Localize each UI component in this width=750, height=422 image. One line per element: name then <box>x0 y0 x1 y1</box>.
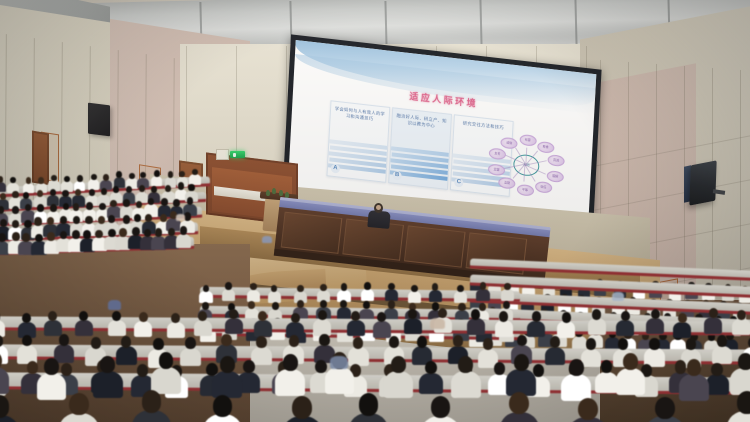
audience-member <box>275 354 305 395</box>
audience-member-head <box>297 300 304 308</box>
audience-member-head <box>0 352 2 369</box>
audience-member-head <box>0 193 6 200</box>
audience-member-torso <box>275 369 305 396</box>
audience-member <box>679 359 709 400</box>
audience-member <box>268 285 281 303</box>
audience-member-head <box>51 175 57 182</box>
audience-member-head <box>99 203 106 211</box>
audience-member-head <box>22 335 32 347</box>
audience-member <box>75 311 93 336</box>
audience-member-head <box>483 338 493 350</box>
audience-member <box>286 313 304 338</box>
audience-member-head <box>0 233 6 242</box>
audience-member-head <box>22 313 31 323</box>
audience-member <box>561 359 591 400</box>
audience-member-head <box>95 230 103 239</box>
audience-member-torso <box>588 318 606 334</box>
audience-member-torso <box>495 320 513 336</box>
audience-member-head <box>12 220 19 228</box>
audience-member-torso <box>108 320 126 336</box>
audience-member <box>645 397 685 422</box>
audience-member-head <box>621 311 630 321</box>
audience-member-torso <box>404 318 422 334</box>
audience-member-head <box>23 192 29 199</box>
audience-accent-item <box>108 300 121 310</box>
audience-member-torso <box>313 319 331 335</box>
lecture-hall-photo: 适应人际环境 学会如何与人有效人的学习和沟通技巧A融洽好人际、树立产、知识以教为… <box>0 0 750 422</box>
audience-member-head <box>198 311 207 321</box>
audience-member-head <box>509 392 529 415</box>
audience-member <box>247 283 260 301</box>
audience-member-head <box>319 334 329 346</box>
slide-radial-diagram: 人际 包容尊重真诚理解信任平等互助宽容友善诚信 <box>484 128 571 201</box>
audience-member-head <box>123 199 130 207</box>
audience-member-head <box>432 283 439 291</box>
audience-member-head <box>69 393 89 416</box>
radial-node: 信任 <box>535 181 553 194</box>
audience-member-head <box>142 390 162 413</box>
audience-member-head <box>578 398 598 421</box>
audience-member-head <box>221 334 231 346</box>
audience-member-head <box>678 313 687 323</box>
audience-member-head <box>101 188 107 195</box>
audience-member <box>412 336 433 364</box>
audience-member-torso <box>134 321 152 337</box>
audience-member-head <box>256 336 266 348</box>
audience-member-torso <box>0 367 9 394</box>
audience-member-head <box>48 311 57 321</box>
slide-card-bars <box>389 146 449 189</box>
audience-member-head <box>717 335 727 347</box>
audience-member-head <box>64 176 70 183</box>
audience-member <box>254 311 272 336</box>
audience-member <box>199 285 212 303</box>
audience-member-head <box>154 170 160 177</box>
audience-member-head <box>389 336 399 348</box>
audience-member-head <box>153 338 163 350</box>
audience-member <box>222 282 235 300</box>
radial-node: 理解 <box>546 170 564 183</box>
audience-member <box>646 309 664 334</box>
audience-member <box>349 393 389 422</box>
audience-member-head <box>514 354 529 371</box>
audience-member-head <box>364 282 371 290</box>
radial-node: 包容 <box>519 134 537 147</box>
audience-member-head <box>151 186 157 193</box>
audience-member-head <box>592 309 601 319</box>
audience-member-head <box>618 338 628 350</box>
audience-member-head <box>171 313 180 323</box>
audience-member-head <box>388 283 395 291</box>
audience-member <box>501 283 514 301</box>
audience-member <box>373 312 391 337</box>
audience-member-head <box>47 232 55 241</box>
audience-member-head <box>562 312 571 322</box>
audience-member-head <box>168 171 174 178</box>
audience-accent-item <box>176 214 185 221</box>
slide-card-a: 学会如何与人有效人的学习和沟通技巧A <box>326 100 390 183</box>
audience-member <box>451 356 481 397</box>
audience-member-head <box>132 227 140 236</box>
audience-member-head <box>10 177 16 184</box>
audience-accent-item <box>430 318 445 329</box>
audience-member-head <box>425 361 437 374</box>
audience-member <box>732 310 750 335</box>
audience-member-head <box>651 309 660 319</box>
audience-member <box>706 363 729 395</box>
audience-member-torso <box>194 320 212 336</box>
table-panel-1 <box>281 212 343 254</box>
audience-member <box>616 311 634 336</box>
audience-member <box>500 392 540 422</box>
audience-member-head <box>37 204 44 212</box>
audience-member-head <box>220 356 235 373</box>
audience-member-head <box>192 169 198 176</box>
audience-member <box>212 356 242 397</box>
audience-member-head <box>79 311 88 321</box>
audience-member-head <box>140 172 146 179</box>
audience-member-head <box>187 197 194 205</box>
wall-speaker-left <box>88 103 110 137</box>
wall-control-plate[interactable] <box>216 149 229 160</box>
audience-member-head <box>458 303 465 311</box>
audience-member-head <box>504 283 511 291</box>
audience-member-head <box>103 174 109 181</box>
audience-member-head <box>243 360 255 373</box>
audience-member <box>673 313 691 338</box>
table-panel-3 <box>404 225 466 267</box>
audience-member-head <box>121 336 131 348</box>
audience-member <box>0 352 9 393</box>
audience-member-head <box>123 215 130 223</box>
audience-member-torso <box>616 320 634 336</box>
audience-member-torso <box>467 318 485 334</box>
audience-member-torso <box>706 374 729 395</box>
slide-card-text: 融洽好人际、树立产、知识以教为中心 <box>392 108 451 131</box>
audience-member-head <box>737 391 750 414</box>
audience-member <box>88 174 99 190</box>
audience-member-head <box>0 395 9 418</box>
audience-member-head <box>44 358 59 375</box>
audience-member-head <box>185 337 195 349</box>
audience-member <box>151 352 181 393</box>
audience-member <box>467 309 485 334</box>
wall-speaker-right <box>689 160 716 205</box>
audience-member <box>225 309 243 334</box>
audience-member-torso <box>408 291 421 303</box>
audience-member <box>527 311 545 336</box>
audience-member <box>419 361 442 393</box>
audience-member-head <box>297 285 304 293</box>
audience-member <box>385 283 398 301</box>
audience-member <box>730 353 750 394</box>
audience-member-torso <box>347 320 365 336</box>
audience-member-head <box>134 214 141 222</box>
audience-member <box>644 338 665 366</box>
audience-member-torso <box>167 322 185 338</box>
audience-member-head <box>202 302 209 310</box>
radial-node: 友善 <box>489 148 507 161</box>
slide-card-b: 融洽好人际、树立产、知识以教为中心B <box>388 107 452 190</box>
audience-member-head <box>320 300 327 308</box>
audience-member-torso <box>429 290 442 302</box>
slide-card-bars <box>327 139 387 182</box>
audience-member-torso <box>673 322 691 338</box>
audience-member-head <box>83 230 91 239</box>
audience-member-head <box>85 216 92 224</box>
audience-member-torso <box>454 291 467 303</box>
audience-member-torso <box>712 346 733 365</box>
radial-nodes: 包容尊重真诚理解信任平等互助宽容友善诚信 <box>487 128 571 138</box>
audience-member <box>17 335 38 363</box>
audience-member-head <box>586 338 596 350</box>
audience-member-head <box>431 396 451 419</box>
audience-member <box>712 335 733 363</box>
audience-member <box>421 396 461 422</box>
audience-member-torso <box>704 317 722 333</box>
exit-running-man-icon <box>233 153 236 157</box>
audience-member <box>476 282 489 300</box>
audience-member-head <box>686 338 696 350</box>
audience-member <box>347 311 365 336</box>
audience-member-head <box>116 171 122 178</box>
audience-member-head <box>320 284 327 292</box>
audience-member <box>132 390 172 422</box>
audience-member-head <box>250 283 257 291</box>
audience-member <box>0 176 6 192</box>
audience-member-head <box>480 282 487 290</box>
audience-member-head <box>391 356 406 373</box>
audience-member-torso <box>180 348 201 367</box>
audience-member-head <box>119 228 127 237</box>
audience-member-head <box>139 312 148 322</box>
audience-member-head <box>711 363 723 376</box>
plant-2 <box>272 188 276 194</box>
audience-member-head <box>550 336 560 348</box>
audience-accent-item <box>330 356 348 369</box>
audience-member <box>337 283 350 301</box>
audience-member-torso <box>75 320 93 336</box>
audience-member <box>283 396 323 422</box>
audience-member-torso <box>222 289 235 301</box>
audience-member-head <box>213 395 233 418</box>
audience-member <box>408 285 421 303</box>
audience-member-head <box>388 300 395 308</box>
audience-member-head <box>173 199 180 207</box>
audience-member-head <box>178 182 184 189</box>
audience-member-head <box>318 310 327 320</box>
audience-member-head <box>86 202 93 210</box>
audience-member-head <box>291 313 300 323</box>
radial-node: 宽容 <box>488 163 506 176</box>
audience-member <box>727 391 750 422</box>
radial-node: 真诚 <box>547 154 565 167</box>
audience-member-head <box>34 217 41 225</box>
plant-1 <box>266 190 270 196</box>
audience-member-head <box>471 309 480 319</box>
audience-member <box>384 356 414 397</box>
audience-member-head <box>458 356 473 373</box>
radial-node: 平等 <box>516 184 534 197</box>
audience-member <box>134 312 152 337</box>
audience-member-head <box>188 184 194 191</box>
audience-member-head <box>100 356 115 373</box>
audience-member-head <box>180 226 188 235</box>
radial-node: 尊重 <box>537 141 555 154</box>
audience-member <box>429 283 442 301</box>
audience-member-head <box>272 302 279 310</box>
audience-member-head <box>649 338 659 350</box>
audience-member-torso <box>0 182 6 192</box>
audience-member-head <box>283 354 298 371</box>
audience-member <box>194 311 212 336</box>
audience-member-head <box>292 396 312 419</box>
audience-member-head <box>129 173 135 180</box>
audience-member <box>151 170 162 186</box>
audience-member-head <box>248 301 255 309</box>
audience-member-head <box>91 174 97 181</box>
audience-member-head <box>35 234 43 243</box>
audience-member-head <box>655 397 675 420</box>
audience-member-head <box>137 364 149 377</box>
audience-member <box>93 356 123 397</box>
audience-member-head <box>12 206 19 214</box>
audience-member <box>557 312 575 337</box>
audience-member-head <box>155 228 163 237</box>
audience-member <box>0 395 19 422</box>
audience-member-head <box>184 212 191 220</box>
audience-member <box>18 313 36 338</box>
exit-sign <box>230 151 245 158</box>
audience-member-head <box>60 216 67 224</box>
audience-member <box>568 398 608 422</box>
audience-member-head <box>112 311 121 321</box>
audience-member-torso <box>189 174 200 184</box>
audience-member <box>23 177 34 193</box>
radial-node: 诚信 <box>501 136 519 149</box>
audience-member-head <box>738 353 750 370</box>
audience-member <box>108 311 126 336</box>
audience-member-torso <box>325 367 355 394</box>
audience-member-head <box>737 310 746 320</box>
audience-member-head <box>341 283 348 291</box>
audience-member <box>203 395 243 422</box>
audience-member-head <box>38 177 44 184</box>
audience-member-head <box>77 175 83 182</box>
audience-member-head <box>126 186 132 193</box>
audience-member-torso <box>732 319 750 335</box>
audience-member <box>167 313 185 338</box>
audience-member-head <box>503 301 510 309</box>
audience-member-torso <box>476 289 489 301</box>
audience-member-head <box>687 359 702 376</box>
audience-member <box>44 311 62 336</box>
audience-member-head <box>353 337 363 349</box>
audience-member-head <box>453 335 463 347</box>
audience-member-head <box>229 309 238 319</box>
audience-member <box>317 284 330 302</box>
audience-member-head <box>417 336 427 348</box>
plant-3 <box>279 190 283 196</box>
audience-member-head <box>351 311 360 321</box>
audience-member-head <box>113 186 119 193</box>
audience-member-torso <box>419 373 442 394</box>
audience-member-head <box>161 198 168 206</box>
audience-member <box>588 309 606 334</box>
audience-member-head <box>623 353 638 370</box>
audience-member-head <box>91 337 101 349</box>
audience-member <box>704 308 722 333</box>
audience-member-head <box>532 311 541 321</box>
audience-member-head <box>517 335 527 347</box>
audience-member <box>7 177 18 193</box>
audience-member <box>361 282 374 300</box>
audience-member-head <box>26 177 32 184</box>
audience-accent-item <box>262 236 272 243</box>
seated-speaker-face <box>376 205 381 210</box>
audience-member-head <box>408 309 417 319</box>
audience-member-head <box>22 233 30 242</box>
audience-member <box>404 309 422 334</box>
audience-member-head <box>159 352 174 369</box>
audience-member-torso <box>254 320 272 336</box>
audience-member-head <box>59 334 69 346</box>
audience-member <box>59 393 99 422</box>
table-panel-4 <box>466 232 528 274</box>
audience-member-head <box>62 190 68 197</box>
audience-member <box>176 226 191 247</box>
audience-member-torso <box>451 371 481 398</box>
audience-accent-item <box>612 292 624 301</box>
audience-member-torso <box>501 289 514 301</box>
audience-member <box>506 354 536 395</box>
audience-member-head <box>601 360 613 373</box>
audience-member <box>495 311 513 336</box>
audience-member-head <box>569 359 584 376</box>
audience-member-head <box>50 204 57 212</box>
audience-member <box>454 285 467 303</box>
audience-member-head <box>73 203 80 211</box>
audience-member-head <box>499 311 508 321</box>
audience-member-head <box>289 335 299 347</box>
audience-member-torso <box>361 289 374 301</box>
audience-member-head <box>12 191 18 198</box>
audience-member-head <box>50 189 56 196</box>
audience-member <box>180 337 201 365</box>
audience-member <box>313 310 331 335</box>
audience-member-head <box>47 217 54 225</box>
audience-member-head <box>89 189 95 196</box>
audience-member <box>189 169 200 185</box>
audience-member-head <box>225 282 232 290</box>
audience-member-torso <box>176 234 191 248</box>
audience-member-head <box>494 362 506 375</box>
audience-member-torso <box>646 318 664 334</box>
audience-member-torso <box>225 318 243 334</box>
audience-member-head <box>411 285 418 293</box>
slide-card-text: 学会如何与人有效人的学习和沟通技巧 <box>331 101 390 124</box>
audience-member <box>0 311 5 336</box>
audience-member-torso <box>616 368 646 395</box>
audience-member <box>616 353 646 394</box>
audience-member-head <box>359 393 379 416</box>
